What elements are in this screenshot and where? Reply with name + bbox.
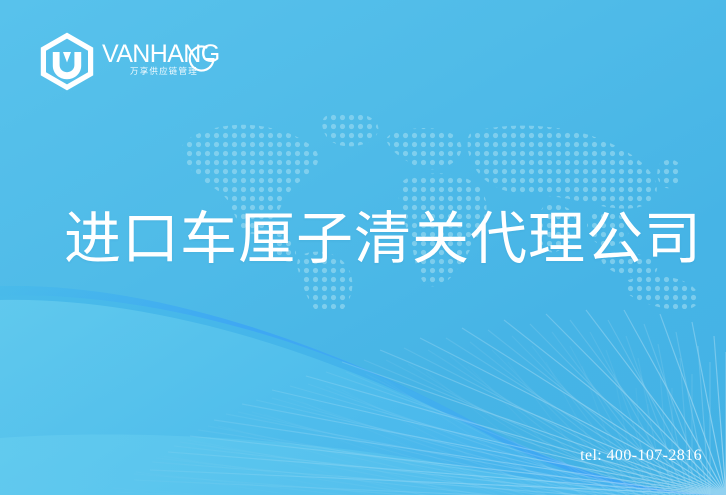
vanhang-hexagon-logo-icon [38, 31, 96, 91]
contact-phone[interactable]: tel: 400-107-2816 [580, 447, 702, 465]
brand-logo[interactable]: VANHANG 万享供应链管理 [38, 31, 222, 91]
brand-wordmark-text: VANHANG [102, 40, 220, 68]
brand-wordmark: VANHANG 万享供应链管理 [102, 36, 222, 86]
brand-wordmark-art: VANHANG 万享供应链管理 [102, 36, 222, 86]
brand-subtitle-text: 万享供应链管理 [130, 66, 198, 76]
promo-banner: VANHANG 万享供应链管理 进口车厘子清关代理公司 tel: 400-107… [0, 0, 726, 495]
page-title: 进口车厘子清关代理公司 [64, 206, 702, 272]
